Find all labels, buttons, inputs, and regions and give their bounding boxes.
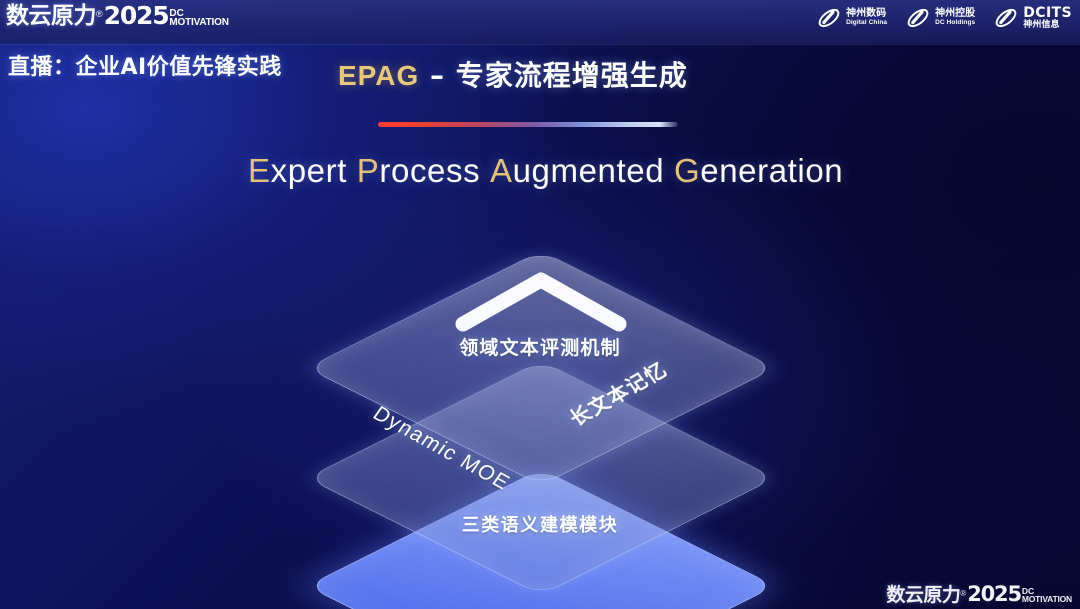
page-subtitle: Expert Process Augmented Generation bbox=[248, 152, 843, 190]
partner-logo-group: 神州数码 Digital China 神州控股 DC Holdings DCIT… bbox=[816, 5, 1072, 31]
brand-name-cn: 数云原力 bbox=[6, 5, 96, 28]
subtitle-cap-g: G bbox=[674, 152, 700, 189]
registered-mark: ® bbox=[96, 9, 103, 19]
subtitle-space-1 bbox=[347, 152, 357, 189]
presentation-slide: 数云原力 ® 2025 DC MOTIVATION 神州数码 Digital C… bbox=[0, 0, 1080, 609]
subtitle-cap-e: E bbox=[248, 152, 271, 189]
watermark-registered-mark: ® bbox=[960, 589, 966, 598]
swirl-logo-icon bbox=[993, 5, 1019, 31]
subtitle-cap-p: P bbox=[357, 152, 380, 189]
subtitle-space-3 bbox=[664, 152, 674, 189]
subtitle-rest-augmented: ugmented bbox=[513, 152, 665, 189]
brand-tagline: DC MOTIVATION bbox=[169, 9, 228, 27]
partner-name-en: Digital China bbox=[846, 20, 887, 27]
swirl-logo-icon bbox=[905, 5, 931, 31]
layered-architecture-diagram bbox=[280, 220, 800, 600]
watermark-name-cn: 数云原力 bbox=[886, 586, 960, 605]
partner-label: DCITS 神州信息 bbox=[1023, 6, 1072, 30]
partner-logo-digital-china: 神州数码 Digital China bbox=[816, 5, 887, 31]
title-acronym: EPAG bbox=[338, 60, 419, 91]
watermark-tagline: DC MOTIVATION bbox=[1022, 588, 1072, 604]
subtitle-rest-process: rocess bbox=[379, 152, 480, 189]
subtitle-space-2 bbox=[480, 152, 490, 189]
partner-logo-dc-holdings: 神州控股 DC Holdings bbox=[905, 5, 975, 31]
partner-name-en: 神州信息 bbox=[1023, 21, 1072, 30]
title-chinese: – 专家流程增强生成 bbox=[419, 59, 688, 92]
page-title: EPAG – 专家流程增强生成 bbox=[338, 54, 688, 94]
live-stream-title: 直播：企业AI价值先锋实践 bbox=[8, 49, 282, 81]
subtitle-rest-expert: xpert bbox=[271, 152, 347, 189]
gradient-divider bbox=[378, 122, 678, 127]
brand-tagline-line2: MOTIVATION bbox=[169, 18, 228, 27]
subtitle-rest-generation: eneration bbox=[700, 152, 843, 189]
brand-year: 2025 bbox=[104, 3, 169, 28]
brand-logo: 数云原力 ® 2025 DC MOTIVATION bbox=[6, 3, 229, 28]
footer-watermark: 数云原力 ® 2025 DC MOTIVATION bbox=[886, 584, 1072, 605]
partner-label: 神州控股 DC Holdings bbox=[935, 9, 975, 26]
swirl-logo-icon bbox=[816, 5, 842, 31]
partner-name-cn: DCITS bbox=[1023, 6, 1072, 21]
watermark-tagline-line2: MOTIVATION bbox=[1022, 596, 1072, 604]
partner-label: 神州数码 Digital China bbox=[846, 9, 887, 26]
watermark-year: 2025 bbox=[967, 584, 1021, 605]
subtitle-cap-a: A bbox=[490, 152, 513, 189]
partner-logo-dcits: DCITS 神州信息 bbox=[993, 5, 1072, 31]
partner-name-en: DC Holdings bbox=[935, 20, 975, 27]
